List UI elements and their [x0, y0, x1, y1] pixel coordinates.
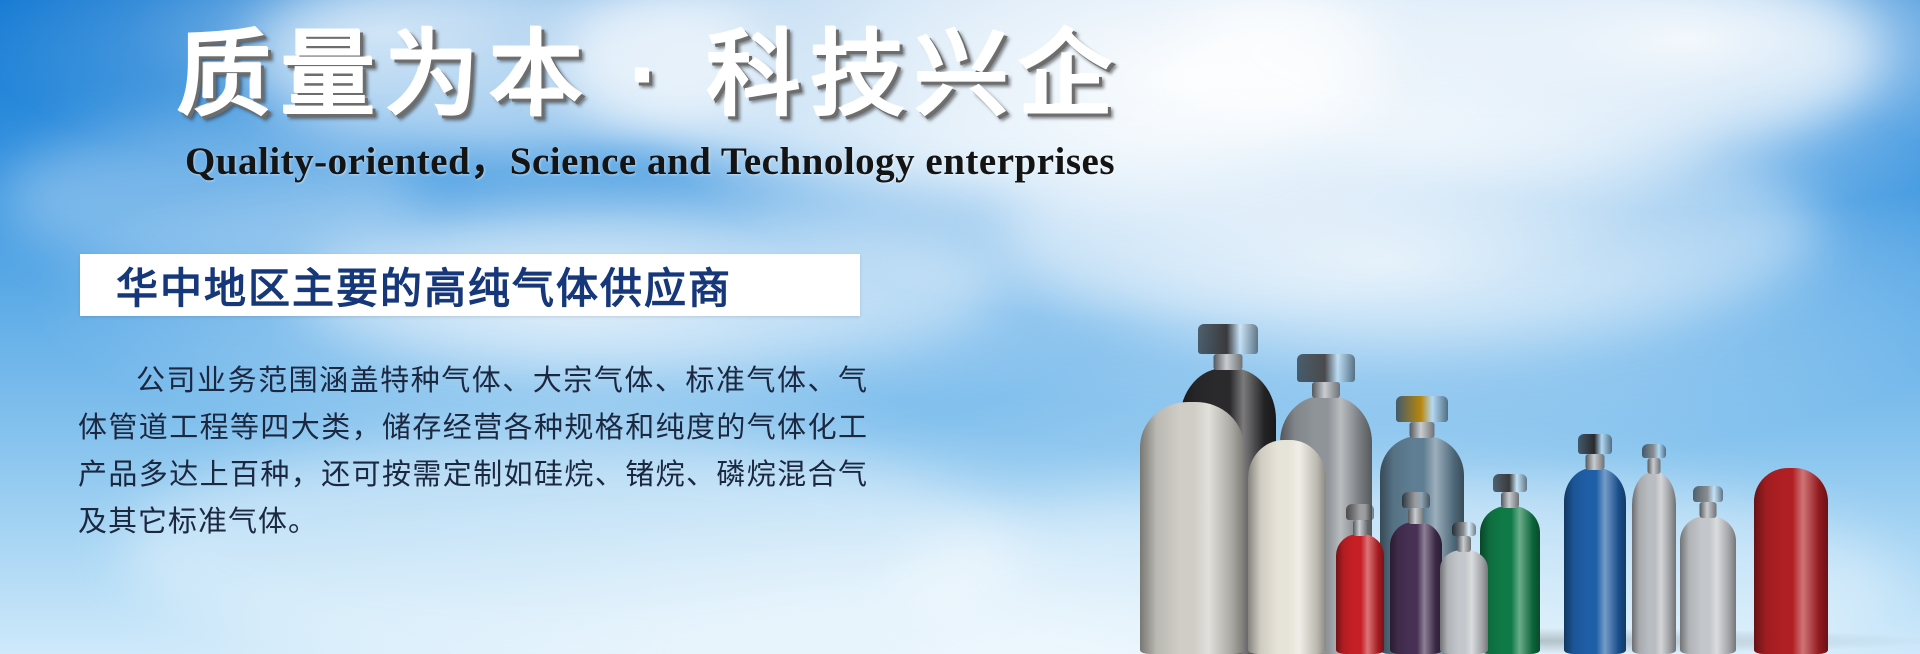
highlight-box-text: 华中地区主要的高纯气体供应商: [80, 255, 732, 316]
purple-small-cylinder: [1390, 492, 1442, 654]
banner-subheadline: Quality-oriented，Science and Technology …: [0, 130, 1300, 186]
cylinder-neck: [1700, 502, 1717, 518]
cylinder-neck: [1586, 454, 1605, 470]
cylinder-valve-cap: [1297, 354, 1355, 382]
silver-small-cylinder-a: [1440, 522, 1488, 654]
blue-medium-cylinder: [1564, 434, 1626, 654]
cylinder-valve-cap: [1493, 474, 1527, 492]
cylinder-valve-cap: [1693, 486, 1723, 502]
cylinder-body: [1480, 506, 1540, 654]
cylinder-body: [1336, 534, 1384, 654]
silver-slim-cylinder: [1632, 444, 1676, 654]
cylinder-body: [1440, 550, 1488, 654]
cylinder-valve-cap: [1642, 444, 1666, 458]
cylinder-neck: [1410, 422, 1435, 438]
cylinder-valve-cap: [1578, 434, 1612, 454]
cylinder-valve-cap: [1198, 324, 1258, 354]
cylinder-neck: [1353, 520, 1367, 536]
dark-red-cylinder: [1754, 468, 1828, 654]
cylinder-neck: [1312, 382, 1340, 398]
cylinder-valve-cap: [1452, 522, 1476, 536]
green-small-cylinder: [1480, 474, 1540, 654]
silver-small-cylinder-b: [1680, 486, 1736, 654]
cream-medium-cylinder: [1248, 440, 1326, 654]
cylinder-neck: [1648, 458, 1661, 474]
cylinder-body: [1754, 468, 1828, 654]
cylinder-neck: [1214, 354, 1243, 370]
highlight-box: 华中地区主要的高纯气体供应商: [80, 254, 860, 316]
cylinder-body: [1680, 516, 1736, 654]
cylinder-body: [1564, 468, 1626, 654]
cylinder-neck: [1408, 508, 1424, 524]
cylinder-neck: [1457, 536, 1471, 552]
cylinder-body: [1390, 522, 1442, 654]
cylinder-body: [1248, 440, 1326, 654]
white-medium-cylinder: [1140, 402, 1244, 654]
gas-cylinder-group: [1140, 180, 1920, 654]
cylinder-body: [1632, 472, 1676, 654]
cylinder-body: [1140, 402, 1244, 654]
banner-headline: 质量为本 · 科技兴企: [0, 24, 1300, 126]
cylinder-valve-cap: [1346, 504, 1374, 520]
banner-body-paragraph: 公司业务范围涵盖特种气体、大宗气体、标准气体、气体管道工程等四大类，储存经营各种…: [78, 358, 868, 546]
red-small-cylinder: [1336, 504, 1384, 654]
cylinder-valve-cap: [1396, 396, 1448, 422]
promo-banner: 质量为本 · 科技兴企 Quality-oriented，Science and…: [0, 0, 1920, 654]
cylinder-valve-cap: [1402, 492, 1430, 508]
cylinder-neck: [1501, 492, 1519, 508]
